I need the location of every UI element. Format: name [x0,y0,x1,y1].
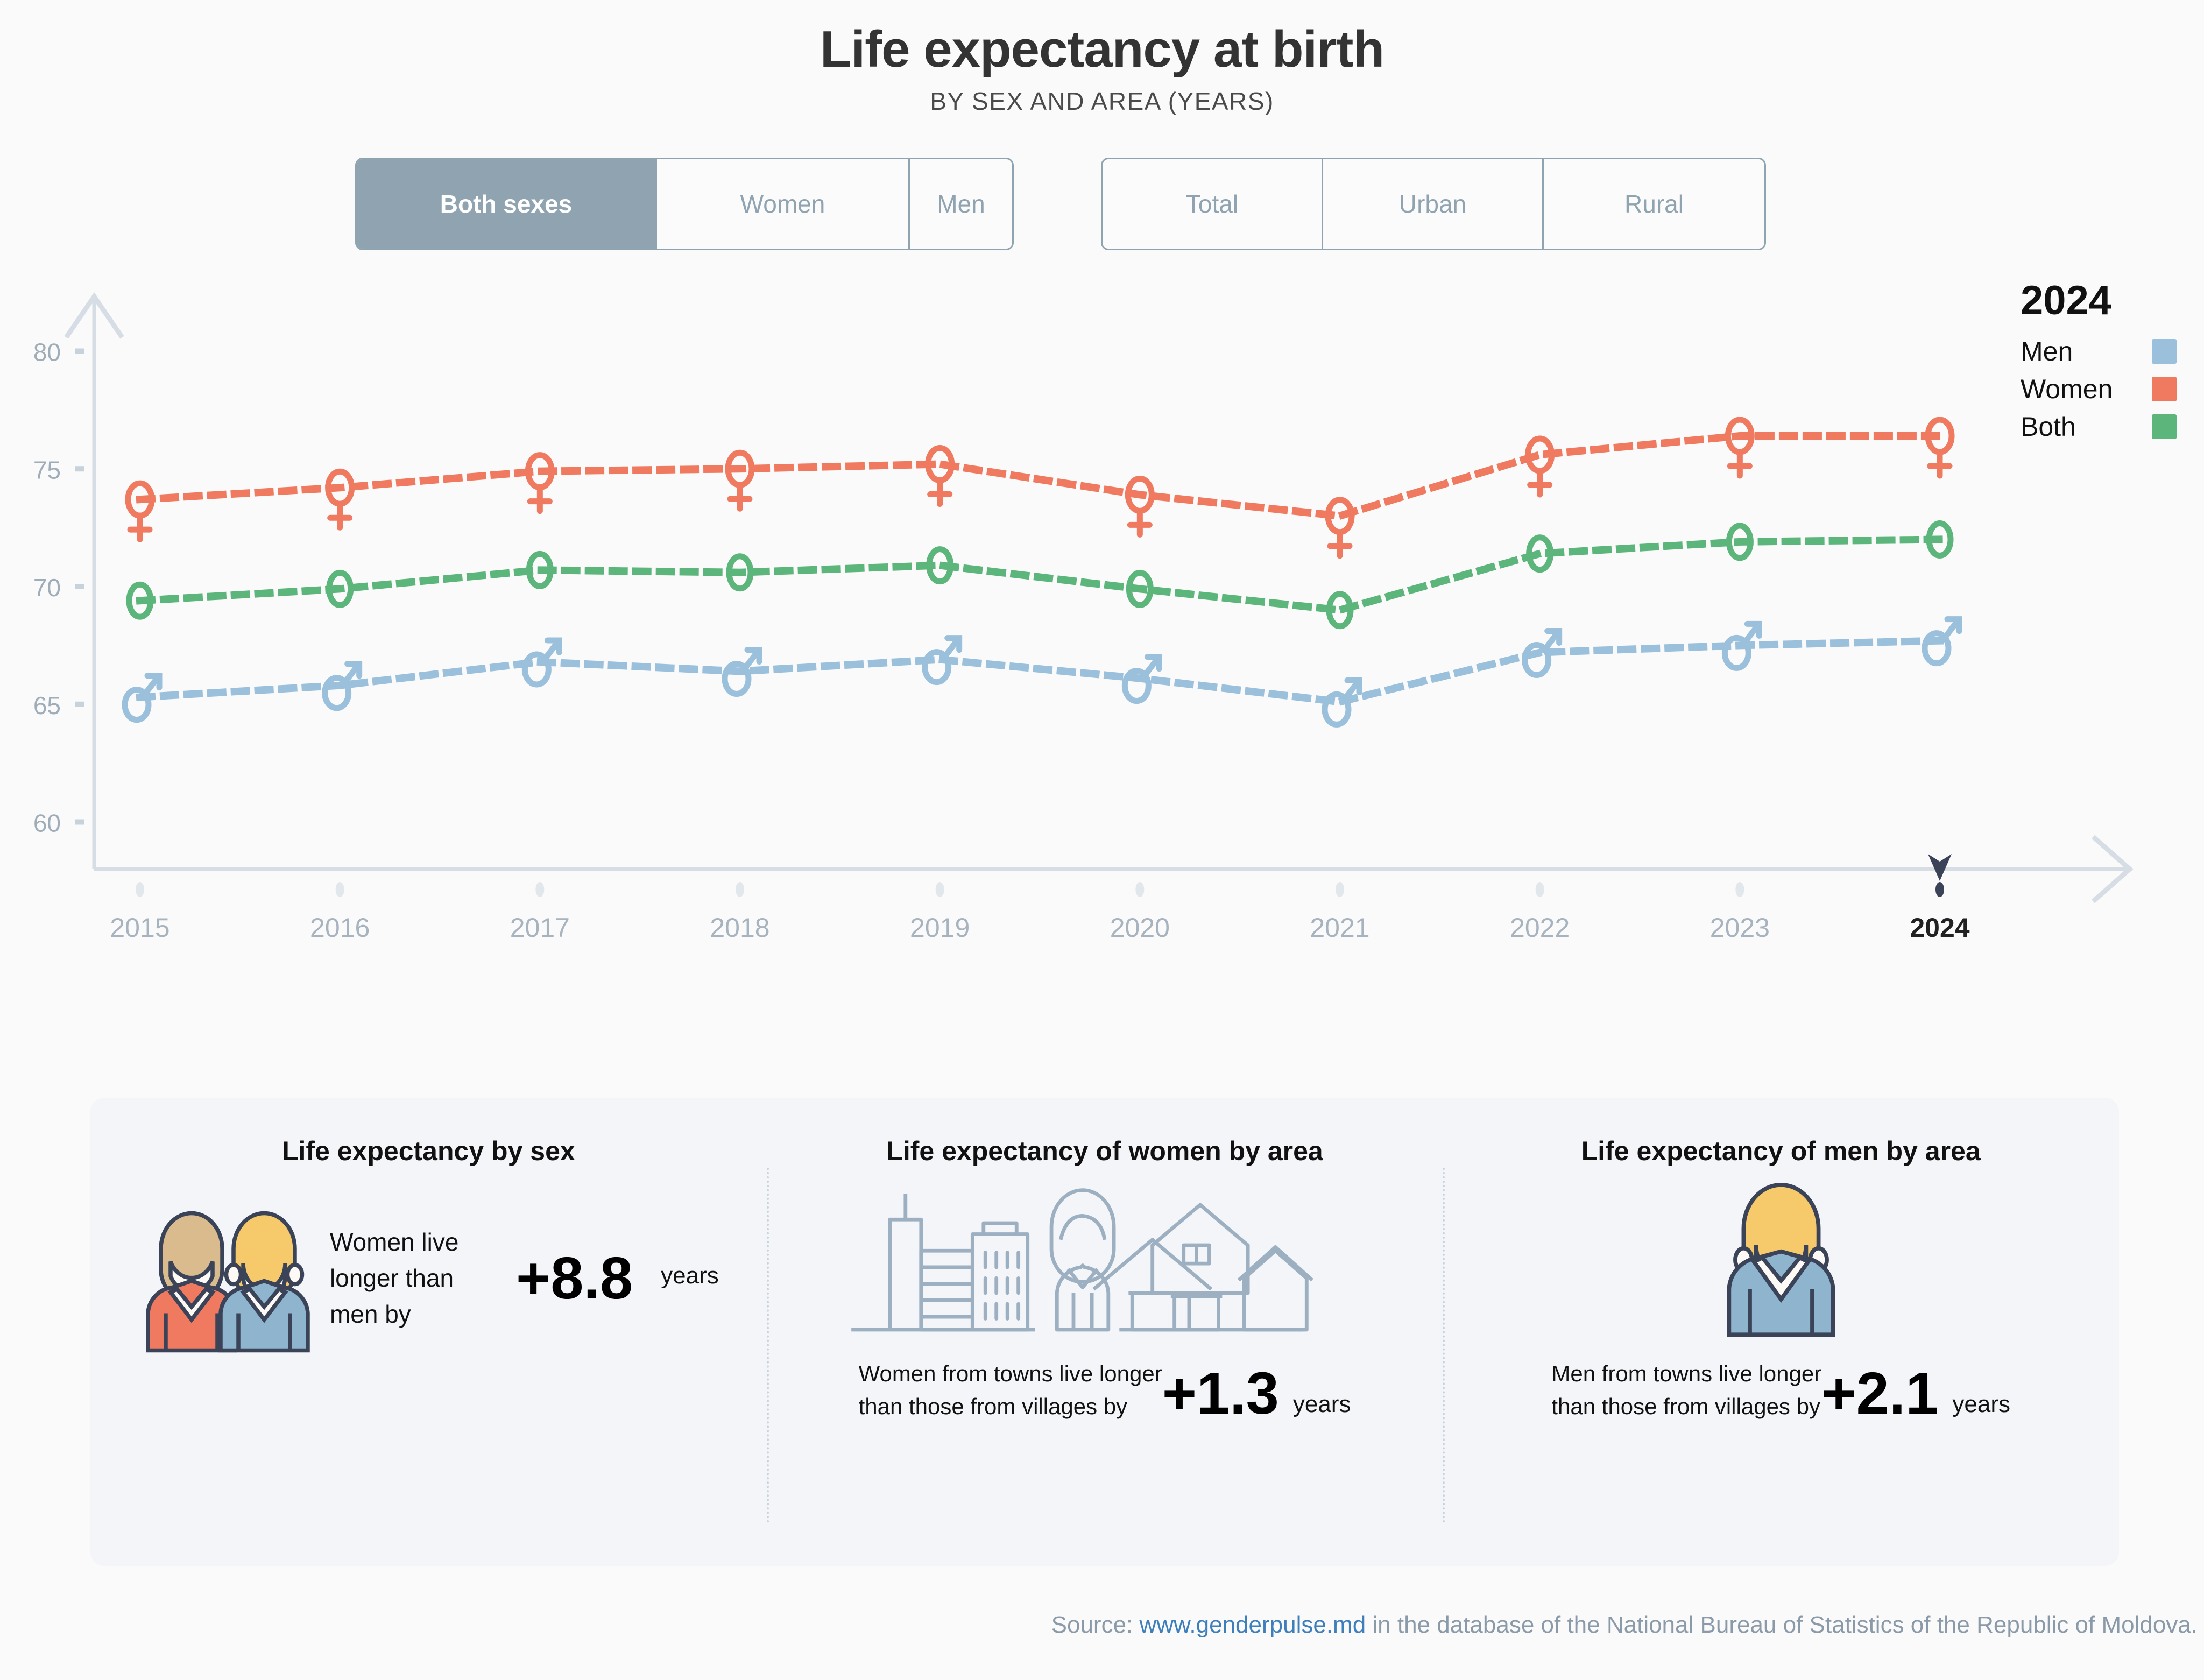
card-content: Men from towns live longer than those fr… [1464,1183,2097,1423]
card-value: +1.3 [1162,1364,1279,1423]
card-caption: Men from towns live longer than those fr… [1551,1358,1821,1423]
legend-item-both[interactable]: Both [2021,411,2177,442]
card-figure-row: Men from towns live longer than those fr… [1551,1358,2010,1423]
y-axis-tick-label: 60 [33,809,61,837]
female-symbol-icon [1528,439,1552,495]
two-people-icon [138,1199,316,1358]
female-symbol-icon [728,453,752,509]
sex-filter-group[interactable]: Both sexes Women Men [355,158,1014,250]
legend-label-both: Both [2021,411,2076,442]
page-subtitle: BY SEX AND AREA (YEARS) [0,87,2204,116]
x-axis-tick-label: 2017 [510,913,570,943]
filter-urban[interactable]: Urban [1323,159,1544,249]
card-title: Life expectancy by sex [112,1135,745,1167]
card-unit: years [661,1262,719,1295]
card-caption-line2: than those from villages by [1551,1394,1820,1419]
legend-swatch-women [2152,377,2177,401]
female-symbol-icon [1128,478,1152,534]
female-symbol-icon [1728,420,1751,476]
female-symbol-icon [328,471,352,527]
page-title: Life expectancy at birth [0,23,2204,77]
x-axis-tick-label: 2021 [1310,913,1369,943]
x-axis-tick-label: 2023 [1710,913,1770,943]
city-woman-village-icon [841,1183,1368,1342]
filter-women[interactable]: Women [657,159,910,249]
source-prefix: Source: [1051,1612,1140,1638]
line-chart: 6065707580201520162017201820192020202120… [0,283,2204,982]
card-content: Women live longer than men by +8.8 years [112,1199,745,1358]
card-caption: Women from towns live longer than those … [859,1358,1162,1423]
card-title: Life expectancy of men by area [1464,1135,2097,1167]
card-caption-line2: than those from villages by [859,1394,1128,1419]
x-axis-tick-label: 2015 [110,913,169,943]
summary-cards: Life expectancy by sex [90,1098,2119,1566]
chart-canvas: 6065707580201520162017201820192020202120… [0,283,2204,982]
source-suffix: in the database of the National Bureau o… [1366,1612,2198,1638]
x-axis-tick-label: 2024 [1910,913,1969,943]
chart-legend: 2024 Men Women Both [2021,277,2198,449]
y-axis-tick-label: 65 [33,691,61,719]
man-icon [1716,1183,1846,1342]
card-caption-line1: Women from towns live longer [859,1361,1162,1386]
x-axis-tick-label: 2022 [1510,913,1570,943]
card-life-expectancy-by-sex: Life expectancy by sex [90,1098,767,1566]
y-axis-tick-label: 80 [33,338,61,366]
card-unit: years [1293,1391,1351,1423]
filter-total[interactable]: Total [1103,159,1323,249]
filter-toolbar: Both sexes Women Men Total Urban Rural [0,158,2204,250]
source-link[interactable]: www.genderpulse.md [1140,1612,1366,1638]
filter-men[interactable]: Men [910,159,1012,249]
x-axis-tick-label: 2019 [910,913,970,943]
female-symbol-icon [1328,500,1352,556]
legend-year: 2024 [2021,277,2198,324]
card-content: Women from towns live longer than those … [788,1183,1422,1423]
card-women-by-area: Life expectancy of women by area [767,1098,1443,1566]
female-symbol-icon [528,455,552,511]
card-caption-line1: Men from towns live longer [1551,1361,1821,1386]
legend-swatch-both [2152,414,2177,439]
legend-item-men[interactable]: Men [2021,336,2177,367]
x-axis-tick-label: 2020 [1110,913,1170,943]
filter-rural[interactable]: Rural [1544,159,1764,249]
legend-swatch-men [2152,339,2177,364]
filter-both-sexes[interactable]: Both sexes [357,159,657,249]
legend-label-men: Men [2021,336,2073,367]
card-men-by-area: Life expectancy of men by area [1443,1098,2119,1566]
card-value: +8.8 [516,1249,633,1308]
card-figure-row: Women from towns live longer than those … [859,1358,1351,1423]
page-header: Life expectancy at birth BY SEX AND AREA… [0,0,2204,116]
card-caption: Women live longer than men by [330,1224,502,1332]
female-symbol-icon [128,483,152,539]
card-unit: years [1952,1391,2010,1423]
x-axis-tick-label: 2016 [310,913,370,943]
card-value: +2.1 [1821,1364,1938,1423]
source-footer: Source: www.genderpulse.md in the databa… [0,1612,2204,1639]
legend-label-women: Women [2021,373,2113,405]
area-filter-group[interactable]: Total Urban Rural [1101,158,1766,250]
female-symbol-icon [928,448,952,504]
y-axis-tick-label: 75 [33,456,61,484]
y-axis-tick-label: 70 [33,574,61,602]
legend-item-women[interactable]: Women [2021,373,2177,405]
card-title: Life expectancy of women by area [788,1135,1422,1167]
x-axis-tick-label: 2018 [710,913,769,943]
female-symbol-icon [1928,420,1952,476]
